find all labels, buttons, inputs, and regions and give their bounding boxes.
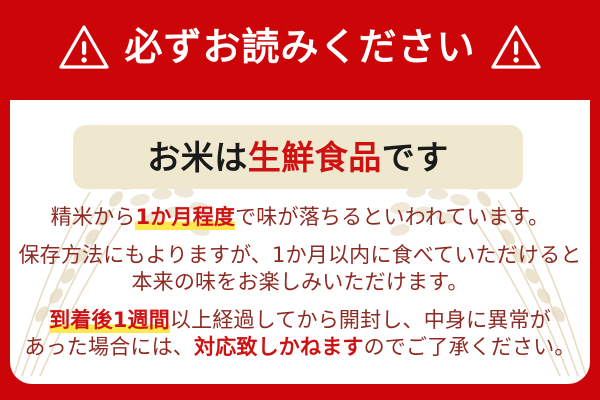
body-line: あった場合には、対応致しかねますのでご了承ください。 xyxy=(10,334,590,361)
warning-triangle-icon-right xyxy=(490,23,542,71)
subtitle-banner: お米は生鮮食品です xyxy=(73,125,523,189)
notice-paragraphs: 精米から1か月程度で味が落ちるといわれています。保存方法にもよりますが、1か月以… xyxy=(10,204,590,361)
header-banner: 必ずお読みください xyxy=(0,0,600,100)
text-segment: あった場合には、 xyxy=(24,335,194,359)
paragraph-spacer xyxy=(10,296,590,307)
body-line: 保存方法にもよりますが、1か月以内に食べていただけると xyxy=(10,242,590,269)
body-line: 本来の味をお楽しみいただけます。 xyxy=(10,269,590,296)
text-segment: のでご了承ください。 xyxy=(364,335,576,359)
body-line: 到着後1週間以上経過してから開封し、中身に異常が xyxy=(10,307,590,334)
rice-storage-notice-card: 必ずお読みください xyxy=(0,0,600,400)
emphasis-text: 対応致しかねます xyxy=(194,335,364,359)
text-segment: 精米から xyxy=(51,205,136,229)
highlighted-emphasis-text: 1か月程度 xyxy=(135,205,235,230)
text-segment: 以上経過してから開封し、中身に異常が xyxy=(170,308,551,332)
subtitle-text: お米は生鮮食品です xyxy=(147,141,449,174)
text-segment: 本来の味をお楽しみいただけます。 xyxy=(131,270,468,294)
paragraph-spacer xyxy=(10,231,590,242)
warning-triangle-icon-left xyxy=(58,23,110,71)
page-title: 必ずお読みください xyxy=(124,28,475,66)
paragraph-1: 精米から1か月程度で味が落ちるといわれています。 xyxy=(10,204,590,231)
text-segment: で味が落ちるといわれています。 xyxy=(235,205,549,229)
paragraph-3: 到着後1週間以上経過してから開封し、中身に異常があった場合には、対応致しかねます… xyxy=(10,307,590,361)
subtitle-suffix: です xyxy=(382,138,449,177)
text-segment: 保存方法にもよりますが、1か月以内に食べていただけると xyxy=(18,243,581,267)
subtitle-emphasis: 生鮮食品 xyxy=(248,138,382,177)
highlighted-emphasis-text: 到着後1週間 xyxy=(49,308,170,333)
paragraph-2: 保存方法にもよりますが、1か月以内に食べていただけると本来の味をお楽しみいただけ… xyxy=(10,242,590,296)
body-line: 精米から1か月程度で味が落ちるといわれています。 xyxy=(10,204,590,231)
body-panel: お米は生鮮食品です 精米から1か月程度で味が落ちるといわれています。保存方法にも… xyxy=(10,100,590,384)
subtitle-prefix: お米は xyxy=(147,138,248,177)
